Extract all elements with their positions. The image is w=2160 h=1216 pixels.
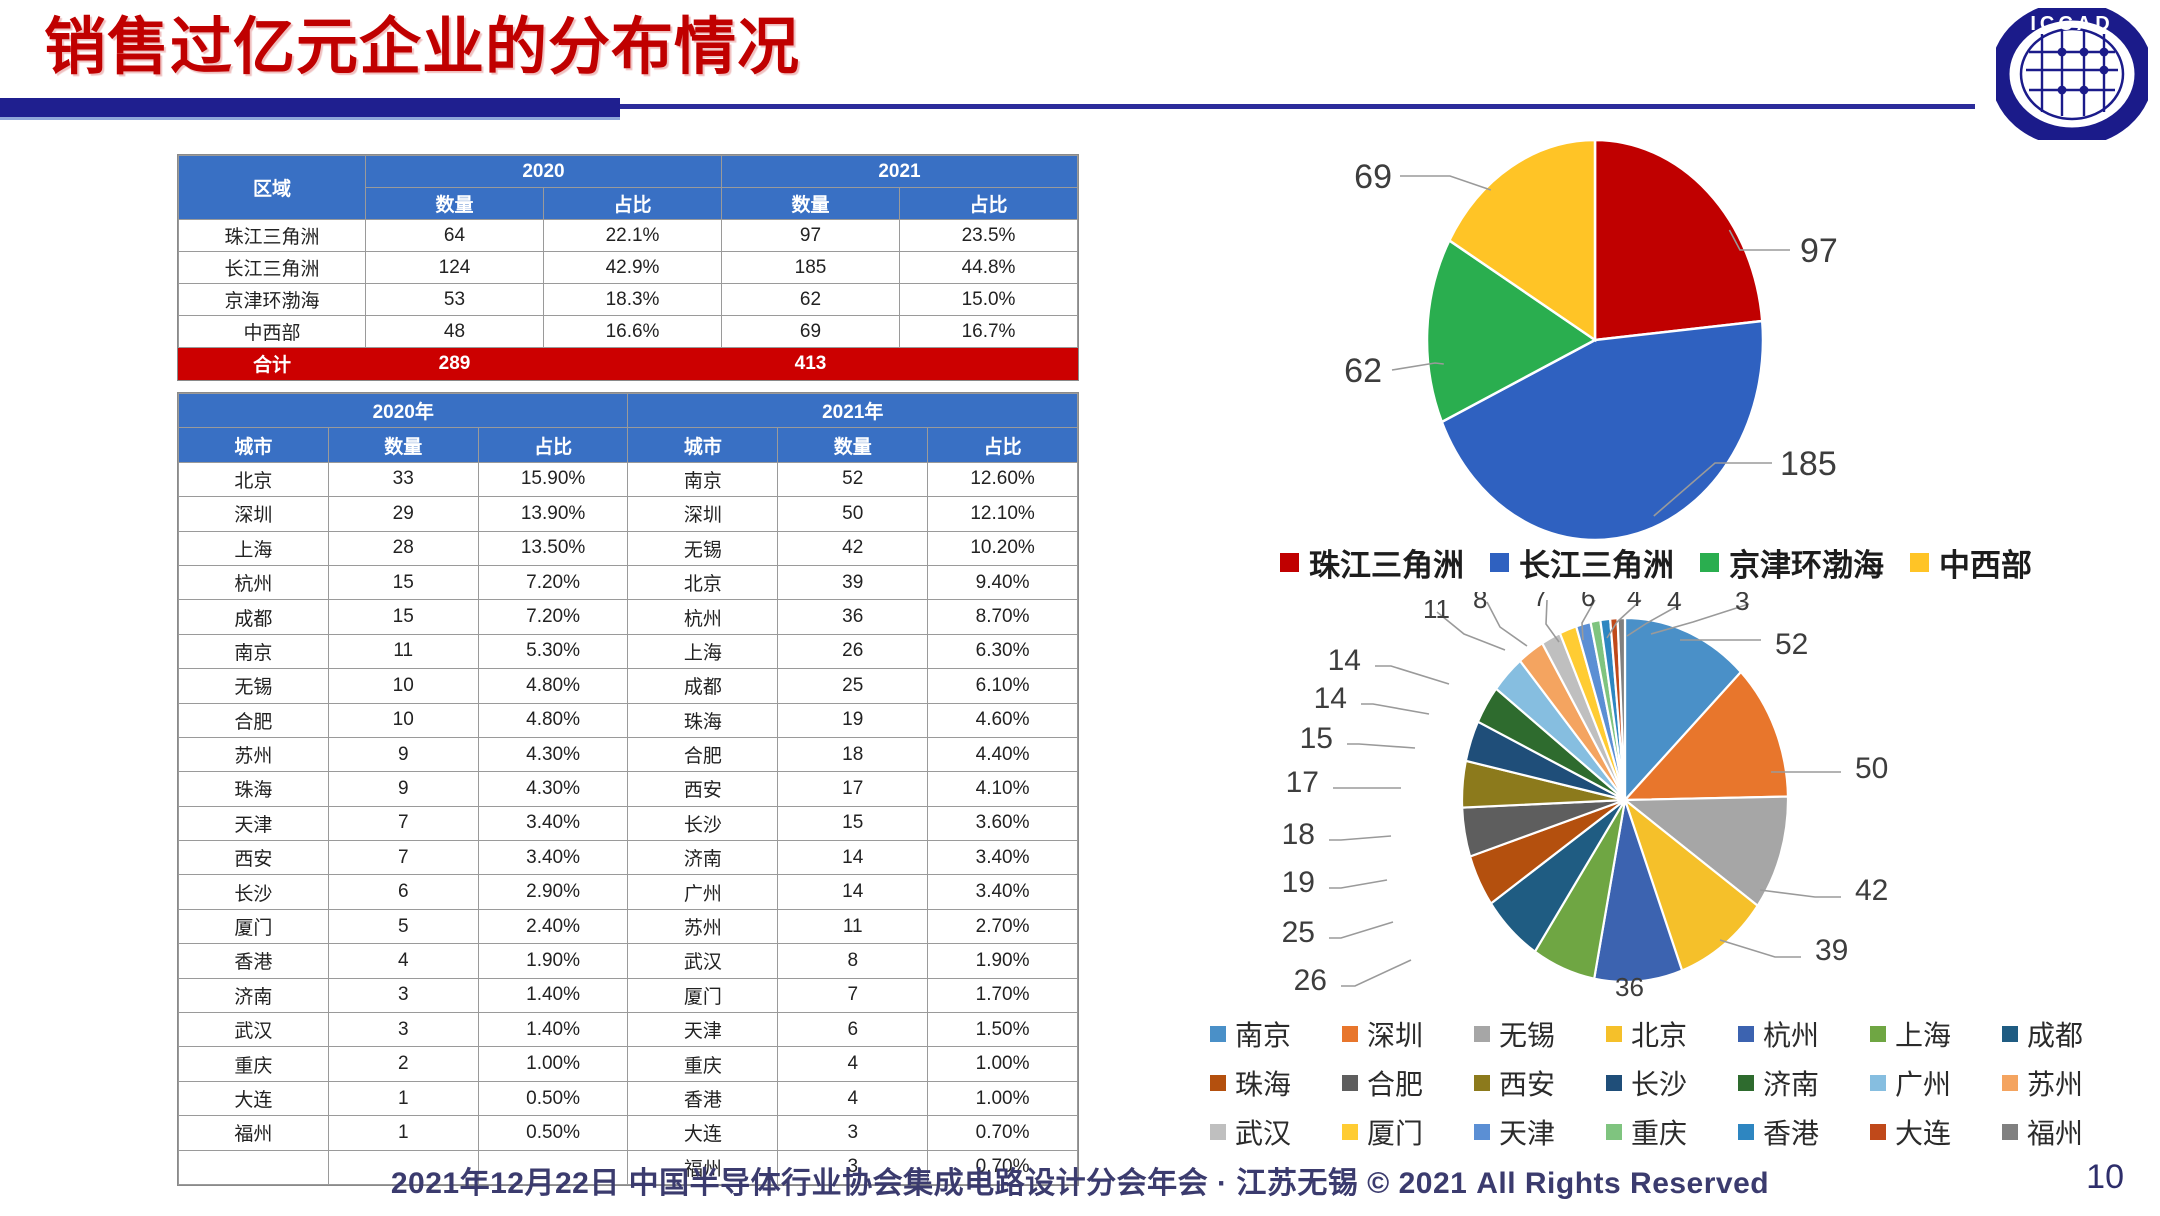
city-2021: 无锡	[628, 531, 778, 565]
share-2021: 3.40%	[928, 875, 1078, 909]
pie-value-label: 25	[1282, 916, 1315, 949]
count-2020: 9	[328, 737, 478, 771]
city-2021: 天津	[628, 1013, 778, 1047]
legend-item[interactable]: 重庆	[1606, 1112, 1738, 1152]
leader-line	[1341, 960, 1411, 986]
table-row: 珠海94.30%西安174.10%	[179, 772, 1078, 806]
legend-label: 香港	[1763, 1112, 1819, 1152]
count-2021: 14	[778, 875, 928, 909]
share-2020: 1.00%	[478, 1047, 628, 1081]
legend-label: 西安	[1499, 1063, 1555, 1103]
share-2021: 0.70%	[928, 1116, 1078, 1150]
legend-swatch-icon	[1474, 1075, 1490, 1091]
share-2020: 7.20%	[478, 565, 628, 599]
table-row: 中西部4816.6%6916.7%	[179, 316, 1078, 348]
count-2021: 69	[722, 316, 900, 348]
city-2021: 苏州	[628, 909, 778, 943]
count-2021: 14	[778, 841, 928, 875]
legend-label: 京津环渤海	[1729, 540, 1884, 585]
share-2020: 16.6%	[544, 316, 722, 348]
region-distribution-table: 区域 2020 2021 数量 占比 数量 占比 珠江三角洲6422.1%972…	[178, 155, 1078, 380]
share-2020: 4.80%	[478, 703, 628, 737]
pie-value-label: 3	[1735, 592, 1749, 616]
legend-row: 珠海合肥西安长沙济南广州苏州	[1210, 1063, 2140, 1103]
legend-label: 天津	[1499, 1112, 1555, 1152]
legend-swatch-icon	[1210, 1124, 1226, 1140]
legend-swatch-icon	[1606, 1075, 1622, 1091]
share-2020: 15.90%	[478, 462, 628, 496]
th-2020-share: 占比	[544, 188, 722, 220]
legend-swatch-icon	[2002, 1124, 2018, 1140]
city-2021: 南京	[628, 462, 778, 496]
th-city-21: 城市	[628, 428, 778, 462]
pie-value-label: 14	[1314, 682, 1347, 715]
leader-line	[1329, 880, 1387, 888]
count-2020: 1	[328, 1081, 478, 1115]
legend-label: 深圳	[1367, 1014, 1423, 1054]
legend-row: 南京深圳无锡北京杭州上海成都	[1210, 1014, 2140, 1054]
share-2020: 18.3%	[544, 284, 722, 316]
share-2021: 2.70%	[928, 909, 1078, 943]
city-2021: 大连	[628, 1116, 778, 1150]
pie-value-label: 11	[1423, 594, 1450, 624]
legend-item[interactable]: 苏州	[2002, 1063, 2134, 1103]
city-2020: 武汉	[179, 1013, 329, 1047]
share-2020: 4.30%	[478, 772, 628, 806]
table-row: 杭州157.20%北京399.40%	[179, 565, 1078, 599]
city-2021: 西安	[628, 772, 778, 806]
leader-line	[1375, 666, 1449, 684]
legend-label: 苏州	[2027, 1063, 2083, 1103]
table-row: 长沙62.90%广州143.40%	[179, 875, 1078, 909]
share-2020: 4.80%	[478, 669, 628, 703]
table-row: 武汉31.40%天津61.50%	[179, 1013, 1078, 1047]
th-2021-count: 数量	[722, 188, 900, 220]
legend-item[interactable]: 厦门	[1342, 1112, 1474, 1152]
share-2021: 1.70%	[928, 978, 1078, 1012]
count-2020: 10	[328, 669, 478, 703]
legend-item[interactable]: 南京	[1210, 1014, 1342, 1054]
share-2021: 1.00%	[928, 1047, 1078, 1081]
pie-value-label: 42	[1855, 874, 1888, 907]
pie-value-label: 7	[1533, 592, 1547, 612]
th-count-20: 数量	[328, 428, 478, 462]
legend-swatch-icon	[1210, 1026, 1226, 1042]
count-2020: 15	[328, 565, 478, 599]
region-name: 中西部	[179, 316, 366, 348]
count-2020: 10	[328, 703, 478, 737]
city-2020: 长沙	[179, 875, 329, 909]
total-count-2020: 289	[366, 348, 544, 380]
city-2021: 杭州	[628, 600, 778, 634]
legend-item[interactable]: 珠江三角洲	[1280, 540, 1464, 585]
count-2020: 2	[328, 1047, 478, 1081]
count-2021: 26	[778, 634, 928, 668]
city-2021: 北京	[628, 565, 778, 599]
count-2021: 39	[778, 565, 928, 599]
table-row: 厦门52.40%苏州112.70%	[179, 909, 1078, 943]
legend-label: 福州	[2027, 1112, 2083, 1152]
legend-item[interactable]: 大连	[1870, 1112, 2002, 1152]
legend-swatch-icon	[1342, 1075, 1358, 1091]
pie-value-label: 4	[1667, 592, 1681, 616]
city-2020: 成都	[179, 600, 329, 634]
pie-value-label: 69	[1354, 158, 1392, 196]
table-row: 西安73.40%济南143.40%	[179, 841, 1078, 875]
table-total-row: 合计289413	[179, 348, 1078, 380]
legend-item[interactable]: 京津环渤海	[1700, 540, 1884, 585]
city-2021: 长沙	[628, 806, 778, 840]
total-share-2021	[900, 348, 1078, 380]
count-2021: 4	[778, 1047, 928, 1081]
count-2021: 50	[778, 497, 928, 531]
count-2020: 4	[328, 944, 478, 978]
city-2020: 北京	[179, 462, 329, 496]
legend-label: 珠海	[1235, 1063, 1291, 1103]
pie-value-label: 36	[1615, 972, 1644, 1002]
legend-item[interactable]: 珠海	[1210, 1063, 1342, 1103]
city-2020: 深圳	[179, 497, 329, 531]
legend-swatch-icon	[1474, 1124, 1490, 1140]
pie-value-label: 97	[1800, 232, 1838, 270]
share-2021: 6.30%	[928, 634, 1078, 668]
count-2021: 97	[722, 220, 900, 252]
total-count-2021: 413	[722, 348, 900, 380]
th-share-21: 占比	[928, 428, 1078, 462]
count-2020: 124	[366, 252, 544, 284]
legend-swatch-icon	[2002, 1075, 2018, 1091]
legend-label: 济南	[1763, 1063, 1819, 1103]
region-pie-chart: 971856269	[1260, 118, 2140, 558]
pie-value-label: 14	[1328, 644, 1361, 677]
city-2020: 珠海	[179, 772, 329, 806]
region-pie-legend: 珠江三角洲长江三角洲京津环渤海中西部	[1280, 540, 2032, 585]
share-2020: 2.90%	[478, 875, 628, 909]
city-distribution-table: 2020年 2021年 城市 数量 占比 城市 数量 占比 北京3315.90%…	[178, 393, 1078, 1185]
share-2020: 22.1%	[544, 220, 722, 252]
city-2021: 合肥	[628, 737, 778, 771]
count-2021: 42	[778, 531, 928, 565]
table-row: 香港41.90%武汉81.90%	[179, 944, 1078, 978]
city-2020: 合肥	[179, 703, 329, 737]
count-2021: 4	[778, 1081, 928, 1115]
legend-label: 南京	[1235, 1014, 1291, 1054]
city-2021: 厦门	[628, 978, 778, 1012]
region-name: 长江三角洲	[179, 252, 366, 284]
pie-value-label: 39	[1815, 934, 1848, 967]
leader-line	[1329, 836, 1391, 840]
table-row: 大连10.50%香港41.00%	[179, 1081, 1078, 1115]
pie-value-label: 50	[1855, 752, 1888, 785]
share-2020: 3.40%	[478, 841, 628, 875]
city-2020: 上海	[179, 531, 329, 565]
legend-label: 珠江三角洲	[1309, 540, 1464, 585]
share-2021: 4.60%	[928, 703, 1078, 737]
legend-label: 中西部	[1939, 540, 2032, 585]
legend-label: 武汉	[1235, 1112, 1291, 1152]
share-2021: 15.0%	[900, 284, 1078, 316]
legend-swatch-icon	[1870, 1124, 1886, 1140]
legend-swatch-icon	[1474, 1026, 1490, 1042]
table-row: 上海2813.50%无锡4210.20%	[179, 531, 1078, 565]
table-row: 京津环渤海5318.3%6215.0%	[179, 284, 1078, 316]
legend-item[interactable]: 杭州	[1738, 1014, 1870, 1054]
count-2021: 185	[722, 252, 900, 284]
pie-value-label: 62	[1344, 352, 1382, 390]
share-2021: 1.90%	[928, 944, 1078, 978]
count-2020: 3	[328, 1013, 478, 1047]
legend-swatch-icon	[1738, 1075, 1754, 1091]
legend-label: 大连	[1895, 1112, 1951, 1152]
count-2020: 3	[328, 978, 478, 1012]
legend-swatch-icon	[1910, 553, 1929, 572]
city-2020: 重庆	[179, 1047, 329, 1081]
legend-item[interactable]: 武汉	[1210, 1112, 1342, 1152]
th-city-2020: 2020年	[179, 394, 628, 428]
count-2020: 11	[328, 634, 478, 668]
city-2020: 天津	[179, 806, 329, 840]
th-2020: 2020	[366, 156, 722, 188]
city-2021: 深圳	[628, 497, 778, 531]
city-2020: 福州	[179, 1116, 329, 1150]
share-2020: 0.50%	[478, 1081, 628, 1115]
total-share-2020	[544, 348, 722, 380]
count-2020: 9	[328, 772, 478, 806]
share-2020: 13.50%	[478, 531, 628, 565]
count-2021: 11	[778, 909, 928, 943]
legend-item[interactable]: 济南	[1738, 1063, 1870, 1103]
share-2020: 7.20%	[478, 600, 628, 634]
table-row: 济南31.40%厦门71.70%	[179, 978, 1078, 1012]
legend-item[interactable]: 长沙	[1606, 1063, 1738, 1103]
legend-item[interactable]: 合肥	[1342, 1063, 1474, 1103]
city-2021: 重庆	[628, 1047, 778, 1081]
city-2020: 大连	[179, 1081, 329, 1115]
city-2020: 无锡	[179, 669, 329, 703]
count-2020: 1	[328, 1116, 478, 1150]
share-2021: 16.7%	[900, 316, 1078, 348]
legend-swatch-icon	[1870, 1075, 1886, 1091]
count-2020: 6	[328, 875, 478, 909]
legend-item[interactable]: 西安	[1474, 1063, 1606, 1103]
pie-value-label: 15	[1300, 722, 1333, 755]
legend-label: 无锡	[1499, 1014, 1555, 1054]
count-2020: 5	[328, 909, 478, 943]
share-2020: 1.90%	[478, 944, 628, 978]
pie-value-label: 6	[1581, 592, 1595, 612]
count-2021: 36	[778, 600, 928, 634]
pie-value-label: 17	[1286, 766, 1319, 799]
table-row: 长江三角洲12442.9%18544.8%	[179, 252, 1078, 284]
share-2020: 2.40%	[478, 909, 628, 943]
city-2021: 济南	[628, 841, 778, 875]
leader-line	[1400, 176, 1491, 190]
legend-swatch-icon	[1280, 553, 1299, 572]
legend-swatch-icon	[1870, 1026, 1886, 1042]
legend-item[interactable]: 上海	[1870, 1014, 2002, 1054]
pie-value-label: 185	[1780, 445, 1837, 483]
region-name: 珠江三角洲	[179, 220, 366, 252]
legend-item[interactable]: 北京	[1606, 1014, 1738, 1054]
legend-label: 重庆	[1631, 1112, 1687, 1152]
th-2020-count: 数量	[366, 188, 544, 220]
city-2021: 珠海	[628, 703, 778, 737]
th-city-20: 城市	[179, 428, 329, 462]
city-2020: 厦门	[179, 909, 329, 943]
table-row: 珠江三角洲6422.1%9723.5%	[179, 220, 1078, 252]
pie-value-label: 18	[1282, 818, 1315, 851]
pie-value-label: 4	[1627, 592, 1641, 612]
count-2020: 53	[366, 284, 544, 316]
city-2020: 香港	[179, 944, 329, 978]
table-row: 成都157.20%杭州368.70%	[179, 600, 1078, 634]
count-2021: 19	[778, 703, 928, 737]
share-2021: 1.50%	[928, 1013, 1078, 1047]
share-2020: 3.40%	[478, 806, 628, 840]
count-2021: 7	[778, 978, 928, 1012]
pie-value-label: 19	[1282, 866, 1315, 899]
th-count-21: 数量	[778, 428, 928, 462]
legend-label: 长沙	[1631, 1063, 1687, 1103]
logo-text: ICCAD	[2030, 13, 2113, 35]
region-pie-svg: 971856269	[1260, 118, 2140, 558]
count-2021: 18	[778, 737, 928, 771]
leader-line	[1720, 940, 1801, 957]
legend-swatch-icon	[1342, 1124, 1358, 1140]
leader-line	[1361, 704, 1429, 714]
title-underline-rule	[620, 104, 1975, 109]
legend-item[interactable]: 中西部	[1910, 540, 2032, 585]
share-2021: 9.40%	[928, 565, 1078, 599]
table-row: 深圳2913.90%深圳5012.10%	[179, 497, 1078, 531]
city-2020: 苏州	[179, 737, 329, 771]
share-2021: 23.5%	[900, 220, 1078, 252]
share-2021: 4.40%	[928, 737, 1078, 771]
table-row: 无锡104.80%成都256.10%	[179, 669, 1078, 703]
th-share-20: 占比	[478, 428, 628, 462]
table-row: 重庆21.00%重庆41.00%	[179, 1047, 1078, 1081]
count-2021: 3	[778, 1116, 928, 1150]
legend-item[interactable]: 香港	[1738, 1112, 1870, 1152]
legend-item[interactable]: 成都	[2002, 1014, 2134, 1054]
share-2021: 3.60%	[928, 806, 1078, 840]
leader-line	[1347, 744, 1415, 748]
pie-value-label: 8	[1473, 592, 1487, 614]
share-2020: 1.40%	[478, 1013, 628, 1047]
city-pie-chart: 5250423926251918171514143611876443	[1215, 592, 2145, 1012]
legend-item[interactable]: 长江三角洲	[1490, 540, 1674, 585]
city-2020: 济南	[179, 978, 329, 1012]
legend-swatch-icon	[2002, 1026, 2018, 1042]
city-pie-svg: 5250423926251918171514143611876443	[1215, 592, 2145, 1012]
count-2021: 62	[722, 284, 900, 316]
th-region: 区域	[179, 156, 366, 220]
pie-slice	[1595, 140, 1762, 340]
title-underline-bar	[0, 98, 620, 120]
share-2020: 1.40%	[478, 978, 628, 1012]
table-row: 北京3315.90%南京5212.60%	[179, 462, 1078, 496]
count-2020: 7	[328, 806, 478, 840]
share-2020: 5.30%	[478, 634, 628, 668]
share-2020: 42.9%	[544, 252, 722, 284]
count-2020: 28	[328, 531, 478, 565]
leader-line	[1487, 602, 1527, 646]
city-2020: 南京	[179, 634, 329, 668]
city-2021: 广州	[628, 875, 778, 909]
share-2021: 8.70%	[928, 600, 1078, 634]
share-2020: 4.30%	[478, 737, 628, 771]
count-2021: 25	[778, 669, 928, 703]
pie-value-label: 52	[1775, 628, 1808, 661]
legend-label: 上海	[1895, 1014, 1951, 1054]
table-row: 苏州94.30%合肥184.40%	[179, 737, 1078, 771]
share-2021: 6.10%	[928, 669, 1078, 703]
share-2021: 3.40%	[928, 841, 1078, 875]
legend-item[interactable]: 无锡	[1474, 1014, 1606, 1054]
legend-item[interactable]: 深圳	[1342, 1014, 1474, 1054]
legend-label: 合肥	[1367, 1063, 1423, 1103]
legend-item[interactable]: 天津	[1474, 1112, 1606, 1152]
th-2021-share: 占比	[900, 188, 1078, 220]
table-row: 合肥104.80%珠海194.60%	[179, 703, 1078, 737]
legend-label: 成都	[2027, 1014, 2083, 1054]
legend-label: 北京	[1631, 1014, 1687, 1054]
footer-text: 2021年12月22日 中国半导体行业协会集成电路设计分会年会 · 江苏无锡 ©…	[0, 1158, 2160, 1202]
count-2021: 15	[778, 806, 928, 840]
region-name: 京津环渤海	[179, 284, 366, 316]
page-title: 销售过亿元企业的分布情况	[44, 12, 800, 83]
share-2020: 13.90%	[478, 497, 628, 531]
pie-value-label: 26	[1294, 964, 1327, 997]
city-2020: 西安	[179, 841, 329, 875]
count-2020: 64	[366, 220, 544, 252]
legend-row: 武汉厦门天津重庆香港大连福州	[1210, 1112, 2140, 1152]
th-city-2021: 2021年	[628, 394, 1078, 428]
share-2021: 44.8%	[900, 252, 1078, 284]
legend-label: 长江三角洲	[1519, 540, 1674, 585]
count-2021: 6	[778, 1013, 928, 1047]
count-2020: 48	[366, 316, 544, 348]
count-2020: 7	[328, 841, 478, 875]
leader-line	[1760, 890, 1841, 897]
table-row: 南京115.30%上海266.30%	[179, 634, 1078, 668]
city-2020: 杭州	[179, 565, 329, 599]
legend-swatch-icon	[1490, 553, 1509, 572]
city-2021: 上海	[628, 634, 778, 668]
share-2021: 1.00%	[928, 1081, 1078, 1115]
count-2020: 33	[328, 462, 478, 496]
city-2021: 成都	[628, 669, 778, 703]
legend-swatch-icon	[1700, 553, 1719, 572]
legend-swatch-icon	[1210, 1075, 1226, 1091]
legend-swatch-icon	[1342, 1026, 1358, 1042]
legend-label: 厦门	[1367, 1112, 1423, 1152]
share-2021: 4.10%	[928, 772, 1078, 806]
table-row: 天津73.40%长沙153.60%	[179, 806, 1078, 840]
total-label: 合计	[179, 348, 366, 380]
legend-item[interactable]: 福州	[2002, 1112, 2134, 1152]
legend-swatch-icon	[1606, 1026, 1622, 1042]
share-2021: 10.20%	[928, 531, 1078, 565]
legend-label: 杭州	[1763, 1014, 1819, 1054]
legend-label: 广州	[1895, 1063, 1951, 1103]
legend-item[interactable]: 广州	[1870, 1063, 2002, 1103]
city-pie-legend: 南京深圳无锡北京杭州上海成都珠海合肥西安长沙济南广州苏州武汉厦门天津重庆香港大连…	[1210, 1014, 2140, 1161]
count-2020: 15	[328, 600, 478, 634]
legend-swatch-icon	[1738, 1124, 1754, 1140]
th-2021: 2021	[722, 156, 1078, 188]
count-2021: 52	[778, 462, 928, 496]
